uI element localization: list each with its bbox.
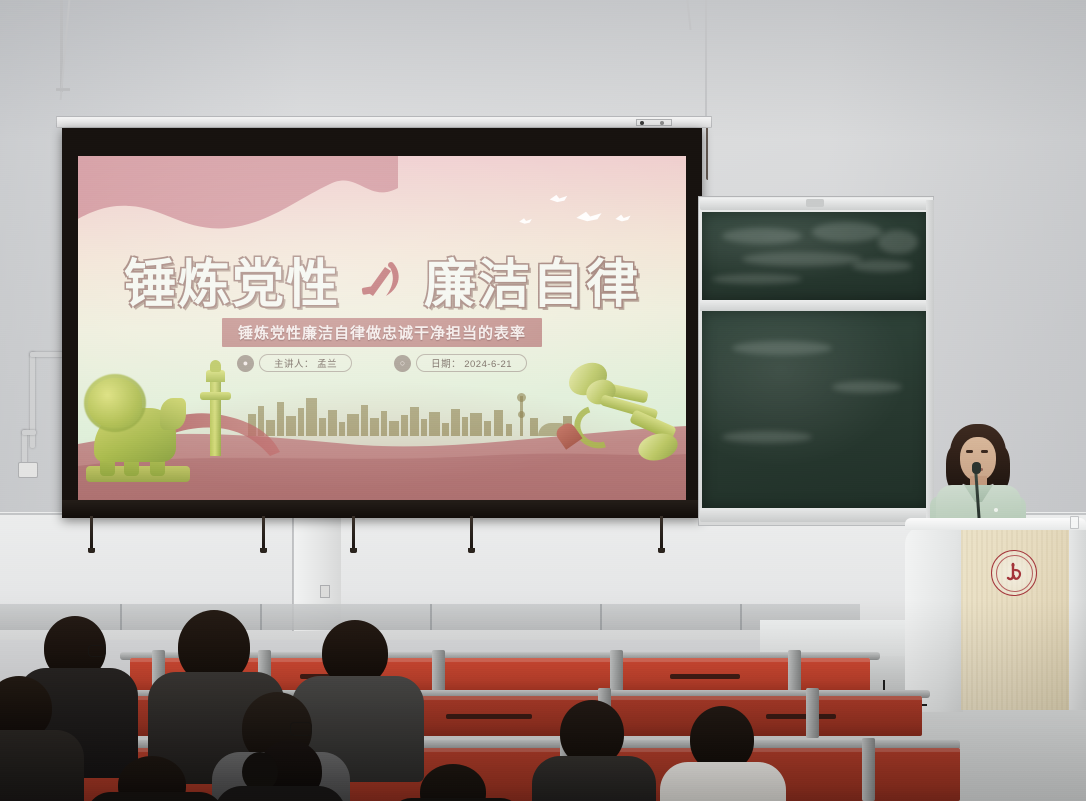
chalkboard-upper-panel[interactable] (702, 212, 928, 300)
projector-screen-housing[interactable] (56, 116, 712, 128)
slide-subtitle-bar: 锤炼党性廉洁自律做忠诚干净担当的表率 (222, 318, 542, 347)
dove-icon (614, 212, 632, 224)
skirting-seam (600, 604, 602, 630)
slide-title-right: 廉洁自律 (424, 242, 640, 317)
slide-title: 锤炼党性 廉洁自律 (78, 242, 686, 317)
eyeglasses-icon (290, 722, 312, 736)
microphone-icon (972, 462, 981, 474)
lecture-date: 日期： 2024-6-21 (416, 354, 527, 372)
ceiling-cable (705, 0, 707, 120)
chalkboard-bottom-rail (700, 508, 932, 522)
desk-post (432, 650, 445, 694)
golden-trumpets-icon (534, 362, 684, 474)
skirting-seam (430, 604, 432, 630)
screen-strap-hook (88, 548, 95, 553)
ceiling-hanger-bracket (56, 88, 70, 91)
dove-icon (518, 216, 533, 226)
desk-post (610, 650, 623, 694)
desk-post (806, 688, 819, 738)
presentation-slide: 锤炼党性 廉洁自律 锤炼党性廉洁自律做忠诚干净担当的表率 ● (78, 156, 686, 500)
microphone-icon: ● (237, 355, 254, 372)
hanging-cable (706, 120, 708, 180)
calendar-icon: ○ (394, 355, 411, 372)
hammer-and-sickle-icon (358, 256, 406, 304)
screen-weight-bar (62, 500, 702, 518)
chalkboard-divider (700, 300, 932, 311)
screen-status-led (660, 121, 664, 125)
screen-strap (470, 516, 473, 552)
slide-title-left: 锤炼党性 (124, 242, 340, 317)
red-flag-ribbon (78, 156, 398, 236)
chalkboard-lower-panel[interactable] (702, 311, 928, 508)
screen-strap (352, 516, 355, 552)
speaker-meta: ● 主讲人： 孟兰 (237, 354, 352, 372)
wall-socket (320, 585, 330, 598)
city-skyline-silhouette (248, 388, 578, 436)
skirting-seam (120, 604, 122, 630)
wall-pipe (22, 430, 36, 435)
desk-post (788, 650, 801, 694)
screen-strap (660, 516, 663, 552)
university-seal-icon (991, 550, 1037, 596)
screen-strap-hook (350, 548, 357, 553)
screen-strap (90, 516, 93, 552)
stone-lion-statue-icon (84, 360, 188, 476)
presenter-face (960, 437, 996, 481)
electrical-box (18, 462, 38, 478)
dove-icon (548, 192, 569, 205)
slide-subtitle: 锤炼党性廉洁自律做忠诚干净担当的表率 (238, 324, 526, 342)
screen-strap (262, 516, 265, 552)
screen-strap-hook (260, 548, 267, 553)
date-meta: ○ 日期： 2024-6-21 (394, 354, 527, 372)
screen-status-led (640, 121, 644, 125)
huabiao-column-icon (198, 360, 232, 456)
lecture-hall-photo: 锤炼党性 廉洁自律 锤炼党性廉洁自律做忠诚干净担当的表率 ● (0, 0, 1086, 801)
chalkboard-clip (806, 199, 824, 207)
eyeglasses-icon (88, 645, 106, 657)
speaker-name: 主讲人： 孟兰 (259, 354, 352, 372)
skirting-seam (740, 604, 742, 630)
skirting-seam (260, 604, 262, 630)
lectern[interactable] (905, 512, 1086, 712)
desk-post (862, 738, 875, 801)
screen-strap-hook (658, 548, 665, 553)
screen-strap-hook (468, 548, 475, 553)
dove-icon (574, 208, 604, 225)
water-glass[interactable] (1070, 516, 1079, 529)
